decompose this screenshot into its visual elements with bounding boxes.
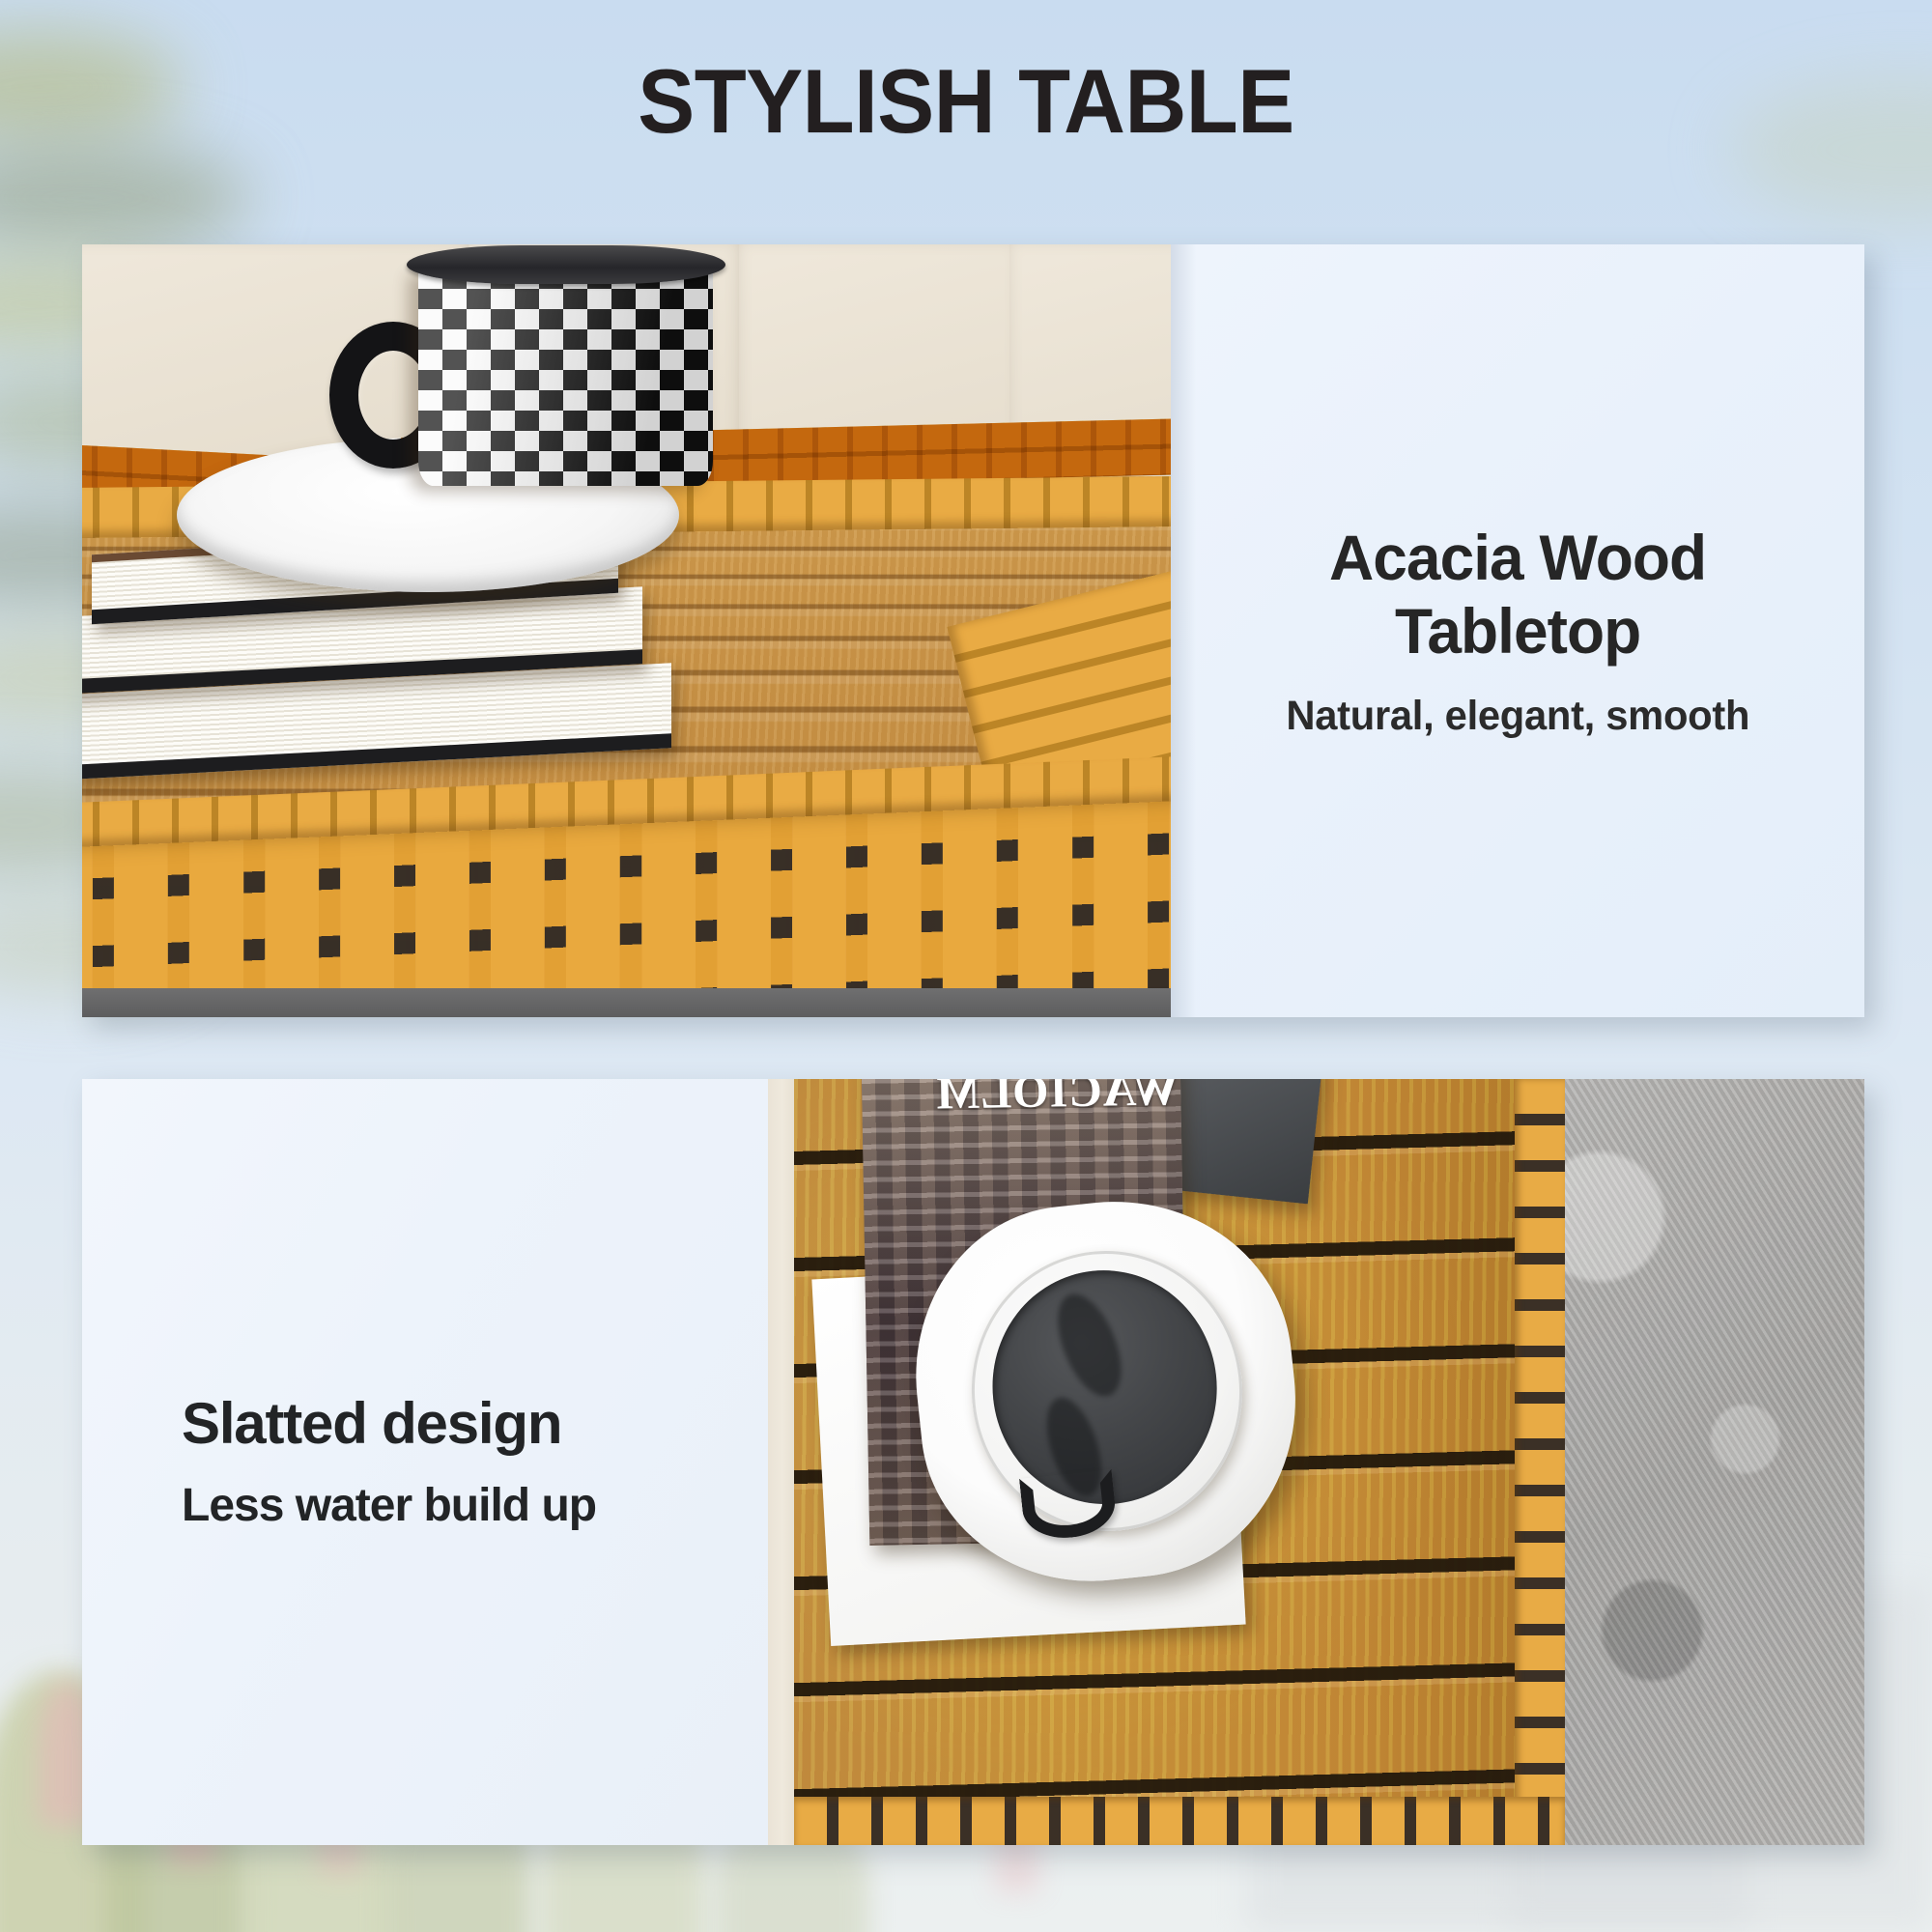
feature-heading: Slatted design — [182, 1392, 561, 1456]
feature-subheading: Less water build up — [182, 1481, 596, 1532]
feature-copy-slatted-design: Slatted design Less water build up — [82, 1079, 768, 1845]
checkered-mug — [418, 269, 713, 486]
feature-heading-line-2: Tabletop — [1395, 595, 1640, 667]
feature-heading-line-1: Acacia Wood — [1329, 522, 1706, 593]
rattan-weave-edge-right — [1515, 1079, 1565, 1845]
cup-handle — [1019, 1469, 1118, 1543]
feature-card-slatted-design: Slatted design Less water build up WACIO… — [82, 1079, 1864, 1845]
page-title: STYLISH TABLE — [58, 56, 1874, 147]
floor-shadow — [82, 988, 1171, 1017]
concrete-floor — [1533, 1079, 1864, 1845]
panel-divider-strip — [768, 1079, 794, 1845]
coffee-table-with-mug-and-books-photo — [82, 244, 1171, 1017]
magazine-title-text: WACIOLM — [869, 1079, 1179, 1122]
feature-subheading: Natural, elegant, smooth — [1286, 693, 1749, 740]
feature-heading: Acacia Wood Tabletop — [1329, 522, 1706, 667]
slatted-tabletop-overhead-photo: WACIOLM — [794, 1079, 1864, 1845]
feature-copy-acacia-wood: Acacia Wood Tabletop Natural, elegant, s… — [1171, 244, 1864, 1017]
rattan-weave-edge-bottom — [794, 1797, 1565, 1845]
mug-rim — [407, 245, 725, 284]
feature-card-acacia-wood-tabletop: Acacia Wood Tabletop Natural, elegant, s… — [82, 244, 1864, 1017]
dark-booklet — [1164, 1079, 1323, 1204]
saucer — [177, 438, 679, 592]
